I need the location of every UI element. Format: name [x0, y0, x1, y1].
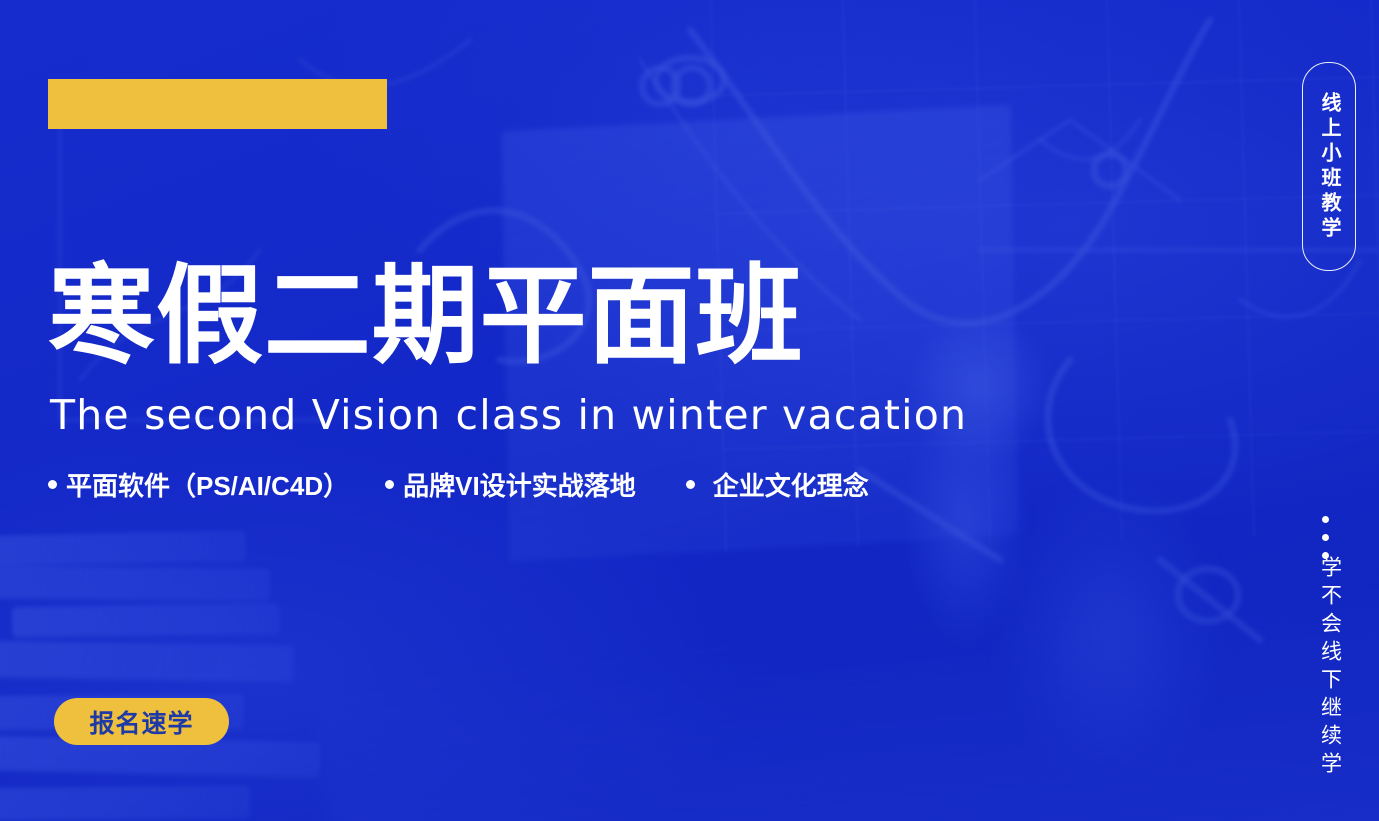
- feature-item-software: 平面软件（PS/AI/C4D）: [48, 466, 349, 503]
- online-class-badge: 线上小班教学: [1302, 62, 1356, 271]
- feature-list: 平面软件（PS/AI/C4D） 品牌VI设计实战落地 企业文化理念: [48, 466, 869, 503]
- bullet-dot-icon: [48, 480, 57, 489]
- guarantee-slogan-label: 学不会线下继续学: [1320, 556, 1341, 780]
- accent-bar: [48, 79, 387, 129]
- bullet-dot-icon: [686, 480, 695, 489]
- promo-poster: 寒假二期平面班 The second Vision class in winte…: [0, 0, 1379, 821]
- page-title: 寒假二期平面班: [48, 262, 803, 370]
- feature-item-brand-vi: 品牌VI设计实战落地: [385, 466, 636, 503]
- guarantee-slogan: 学不会线下继续学: [1313, 556, 1347, 786]
- dot-icon: [1322, 516, 1329, 523]
- feature-label: 平面软件（PS/AI/C4D）: [66, 466, 349, 503]
- enroll-button[interactable]: 报名速学: [54, 698, 229, 745]
- feature-label: 企业文化理念: [713, 466, 869, 503]
- feature-label: 品牌VI设计实战落地: [403, 466, 636, 503]
- dot-icon: [1322, 534, 1329, 541]
- subtitle-english: The second Vision class in winter vacati…: [50, 392, 967, 439]
- feature-item-culture: 企业文化理念: [686, 466, 869, 503]
- online-class-badge-label: 线上小班教学: [1319, 92, 1339, 242]
- poster-content: 寒假二期平面班 The second Vision class in winte…: [0, 0, 1379, 821]
- bullet-dot-icon: [385, 480, 394, 489]
